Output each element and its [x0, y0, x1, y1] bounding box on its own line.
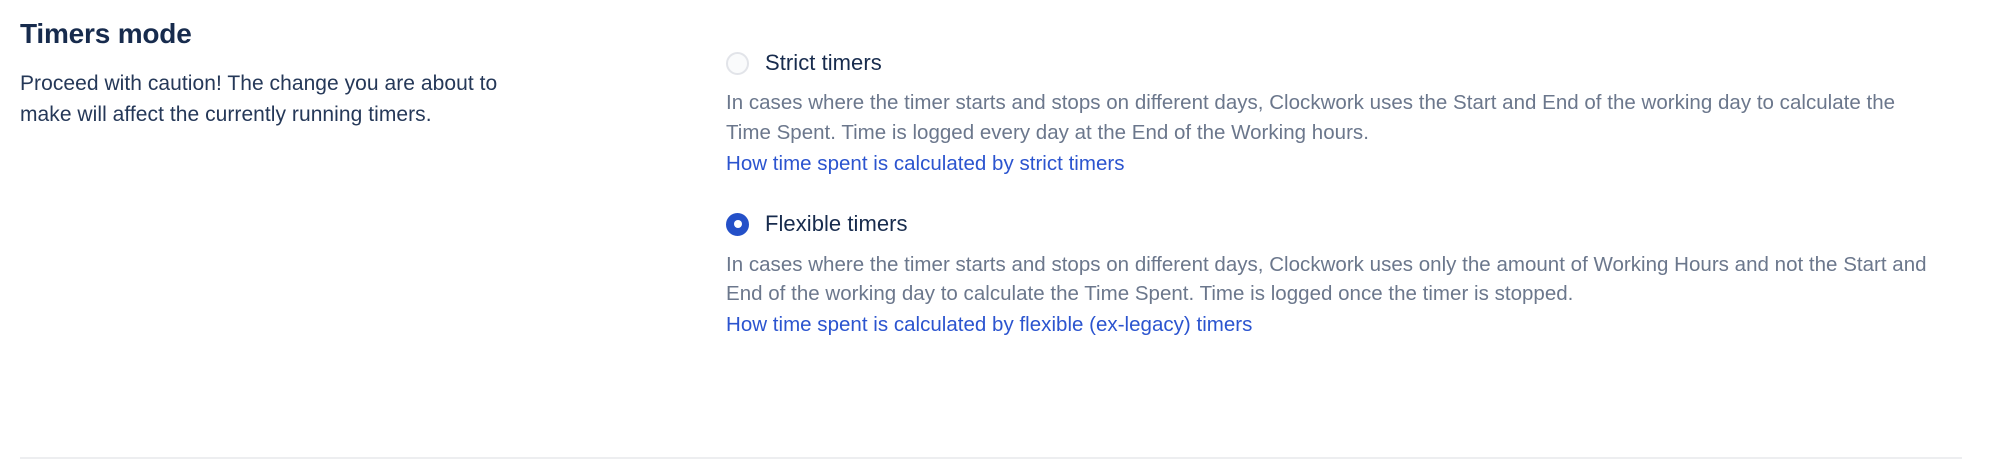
- section-description: Proceed with caution! The change you are…: [20, 69, 520, 131]
- option-description-strict-timers: In cases where the timer starts and stop…: [726, 88, 1931, 148]
- radio-checked-icon[interactable]: [726, 213, 749, 236]
- timers-mode-options-column: Strict timers In cases where the timer s…: [726, 50, 1956, 340]
- radio-label-flexible-timers: Flexible timers: [765, 211, 908, 237]
- radio-option-flexible-timers[interactable]: Flexible timers In cases where the timer…: [726, 211, 1956, 340]
- radio-row-strict-timers[interactable]: Strict timers: [726, 50, 1956, 76]
- radio-label-strict-timers: Strict timers: [765, 50, 882, 76]
- radio-unchecked-icon[interactable]: [726, 52, 749, 75]
- option-body-strict-timers: In cases where the timer starts and stop…: [726, 88, 1931, 179]
- option-description-flexible-timers: In cases where the timer starts and stop…: [726, 250, 1931, 310]
- link-how-time-spent-flexible-timers[interactable]: How time spent is calculated by flexible…: [726, 310, 1252, 340]
- radio-row-flexible-timers[interactable]: Flexible timers: [726, 211, 1956, 237]
- section-info-column: Timers mode Proceed with caution! The ch…: [20, 18, 540, 131]
- timers-mode-settings-panel: Timers mode Proceed with caution! The ch…: [0, 0, 1995, 465]
- page-title: Timers mode: [20, 18, 540, 50]
- radio-option-strict-timers[interactable]: Strict timers In cases where the timer s…: [726, 50, 1956, 179]
- link-how-time-spent-strict-timers[interactable]: How time spent is calculated by strict t…: [726, 149, 1125, 179]
- section-divider: [20, 457, 1962, 459]
- timers-mode-radio-group: Strict timers In cases where the timer s…: [726, 50, 1956, 340]
- option-body-flexible-timers: In cases where the timer starts and stop…: [726, 250, 1931, 341]
